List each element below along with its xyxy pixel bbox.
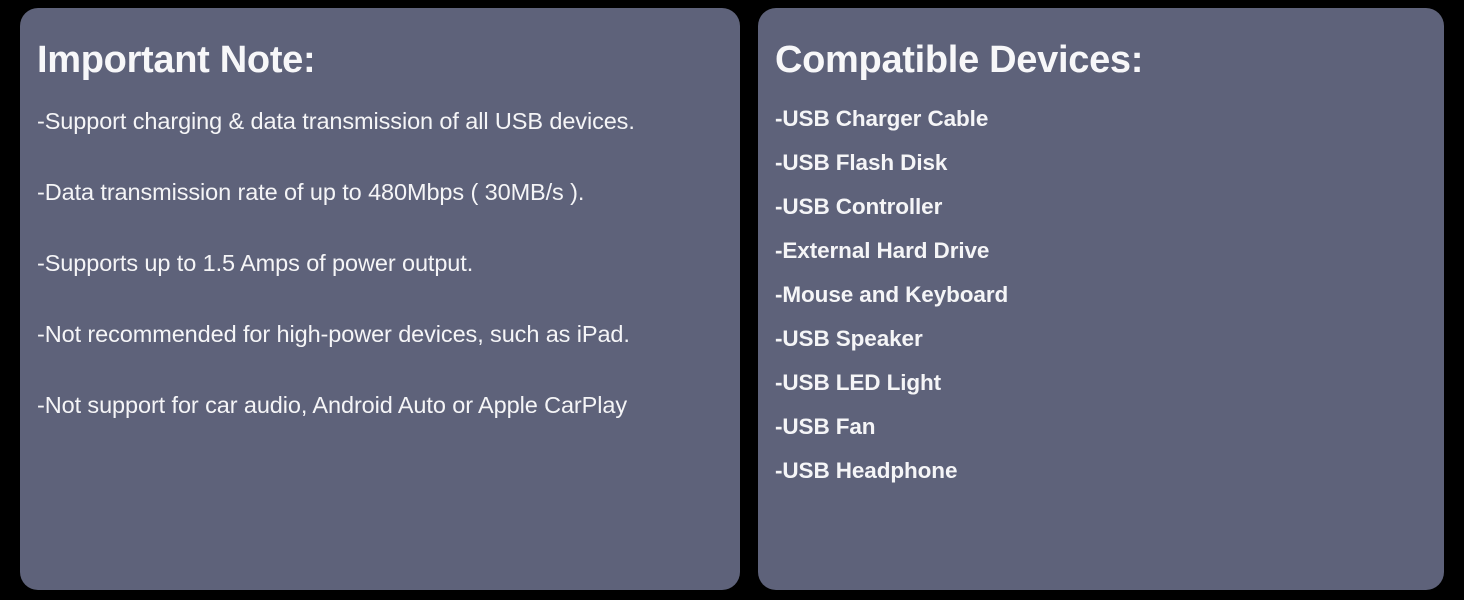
important-note-title: Important Note: [37, 38, 722, 82]
list-item: -USB Charger Cable [775, 104, 1426, 133]
product-info-board: Important Note: -Support charging & data… [0, 0, 1464, 600]
list-item: -External Hard Drive [775, 236, 1426, 265]
important-note-panel: Important Note: -Support charging & data… [20, 8, 740, 590]
list-item: -Supports up to 1.5 Amps of power output… [37, 248, 722, 278]
list-item: -USB Fan [775, 412, 1426, 441]
list-item: -USB Controller [775, 192, 1426, 221]
list-item: -Not recommended for high-power devices,… [37, 319, 722, 349]
list-item: -Mouse and Keyboard [775, 280, 1426, 309]
list-item: -USB Speaker [775, 324, 1426, 353]
compatible-devices-list: -USB Charger Cable -USB Flash Disk -USB … [775, 104, 1426, 485]
list-item: -Support charging & data transmission of… [37, 106, 722, 136]
list-item: -Data transmission rate of up to 480Mbps… [37, 177, 722, 207]
list-item: -Not support for car audio, Android Auto… [37, 390, 722, 420]
compatible-devices-title: Compatible Devices: [775, 38, 1426, 82]
list-item: -USB Headphone [775, 456, 1426, 485]
compatible-devices-panel: Compatible Devices: -USB Charger Cable -… [758, 8, 1444, 590]
list-item: -USB Flash Disk [775, 148, 1426, 177]
list-item: -USB LED Light [775, 368, 1426, 397]
important-note-list: -Support charging & data transmission of… [37, 106, 722, 420]
